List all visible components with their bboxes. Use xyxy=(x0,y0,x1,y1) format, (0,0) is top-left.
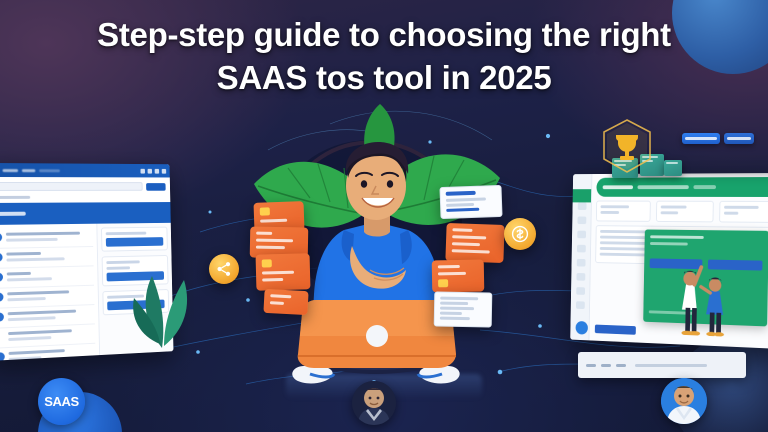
sidebar-icon[interactable] xyxy=(576,273,585,281)
left-list[interactable] xyxy=(0,224,99,361)
floating-cards-left xyxy=(254,202,310,310)
gear-icon[interactable] xyxy=(155,168,160,173)
cta-button-primary[interactable] xyxy=(682,133,720,144)
floating-window-card[interactable] xyxy=(439,185,502,219)
nav-item[interactable] xyxy=(22,169,35,172)
teal-card xyxy=(664,160,682,176)
bell-icon[interactable] xyxy=(140,168,145,173)
right-dashboard-window[interactable] xyxy=(570,173,768,349)
list-item[interactable] xyxy=(0,247,94,269)
right-avatar-photo xyxy=(661,378,707,424)
sidebar-icon[interactable] xyxy=(576,259,585,267)
sidebar-icon[interactable] xyxy=(576,287,585,295)
center-avatar[interactable] xyxy=(352,381,396,425)
right-bottom-toolbar[interactable] xyxy=(578,352,746,378)
section-title xyxy=(0,212,26,216)
primary-button[interactable] xyxy=(595,325,636,335)
sidebar-icon[interactable] xyxy=(577,245,586,253)
avatar xyxy=(0,293,4,302)
saas-logo-badge[interactable]: SAAS xyxy=(38,378,85,425)
left-search-row[interactable] xyxy=(0,177,170,194)
page-title: Step-step guide to choosing the right SA… xyxy=(0,14,768,100)
floating-cards-right xyxy=(440,186,504,327)
left-dashboard-topbar xyxy=(0,163,170,178)
avatar-icon[interactable] xyxy=(162,168,166,173)
rail-logo xyxy=(573,189,592,202)
nav-item[interactable] xyxy=(3,169,19,172)
sidebar-icon[interactable] xyxy=(577,217,586,225)
avatar xyxy=(0,253,3,262)
trophy-icon xyxy=(601,119,653,173)
right-sidebar-rail[interactable] xyxy=(570,174,592,340)
share-network-icon[interactable] xyxy=(209,254,239,284)
cta-button-secondary-label xyxy=(727,137,751,140)
two-people-illustration xyxy=(669,263,736,337)
plant-decor xyxy=(126,236,198,352)
card-chip-icon xyxy=(262,259,272,267)
right-stat-row xyxy=(596,201,768,223)
sidebar-icon[interactable] xyxy=(576,301,585,309)
title-line-2: SAAS tos tool in 2025 xyxy=(217,59,552,96)
top-right-button-group[interactable] xyxy=(682,133,754,144)
center-avatar-photo xyxy=(352,381,396,425)
sidebar-icon[interactable] xyxy=(577,202,586,210)
right-avatar[interactable] xyxy=(661,378,707,424)
stat-card[interactable] xyxy=(656,201,713,223)
avatar xyxy=(0,233,2,242)
cta-button-secondary[interactable] xyxy=(724,133,754,144)
saas-logo-label: SAAS xyxy=(44,394,79,409)
title-line-1: Step-step guide to choosing the right xyxy=(97,16,671,53)
poster-canvas: Step-step guide to choosing the right SA… xyxy=(0,0,768,432)
grid-icon[interactable] xyxy=(148,168,153,173)
list-item[interactable] xyxy=(0,228,93,249)
avatar xyxy=(0,352,5,361)
section-header-bar xyxy=(0,202,171,225)
floating-card[interactable] xyxy=(256,253,311,290)
avatar xyxy=(0,312,4,321)
breadcrumb xyxy=(0,196,30,199)
card-chip-icon xyxy=(438,279,448,287)
right-hero-bar xyxy=(596,177,768,197)
primary-action-button[interactable] xyxy=(146,183,166,191)
topbar-icons[interactable] xyxy=(140,168,166,173)
floating-card[interactable] xyxy=(432,260,485,293)
card-chip-icon xyxy=(260,207,270,215)
coin-icon[interactable] xyxy=(504,218,536,250)
floating-window-card[interactable] xyxy=(434,291,493,327)
search-input[interactable] xyxy=(0,182,143,191)
share-icon-glyph xyxy=(216,261,232,277)
avatar xyxy=(0,273,3,282)
stat-card[interactable] xyxy=(596,201,651,222)
coin-icon-glyph xyxy=(511,225,529,243)
sidebar-icon[interactable] xyxy=(577,231,586,239)
floating-card[interactable] xyxy=(445,223,504,263)
cta-button-primary-label xyxy=(685,137,717,140)
nav-item[interactable] xyxy=(39,169,60,172)
stat-card[interactable] xyxy=(719,201,768,223)
floating-card[interactable] xyxy=(263,289,308,315)
